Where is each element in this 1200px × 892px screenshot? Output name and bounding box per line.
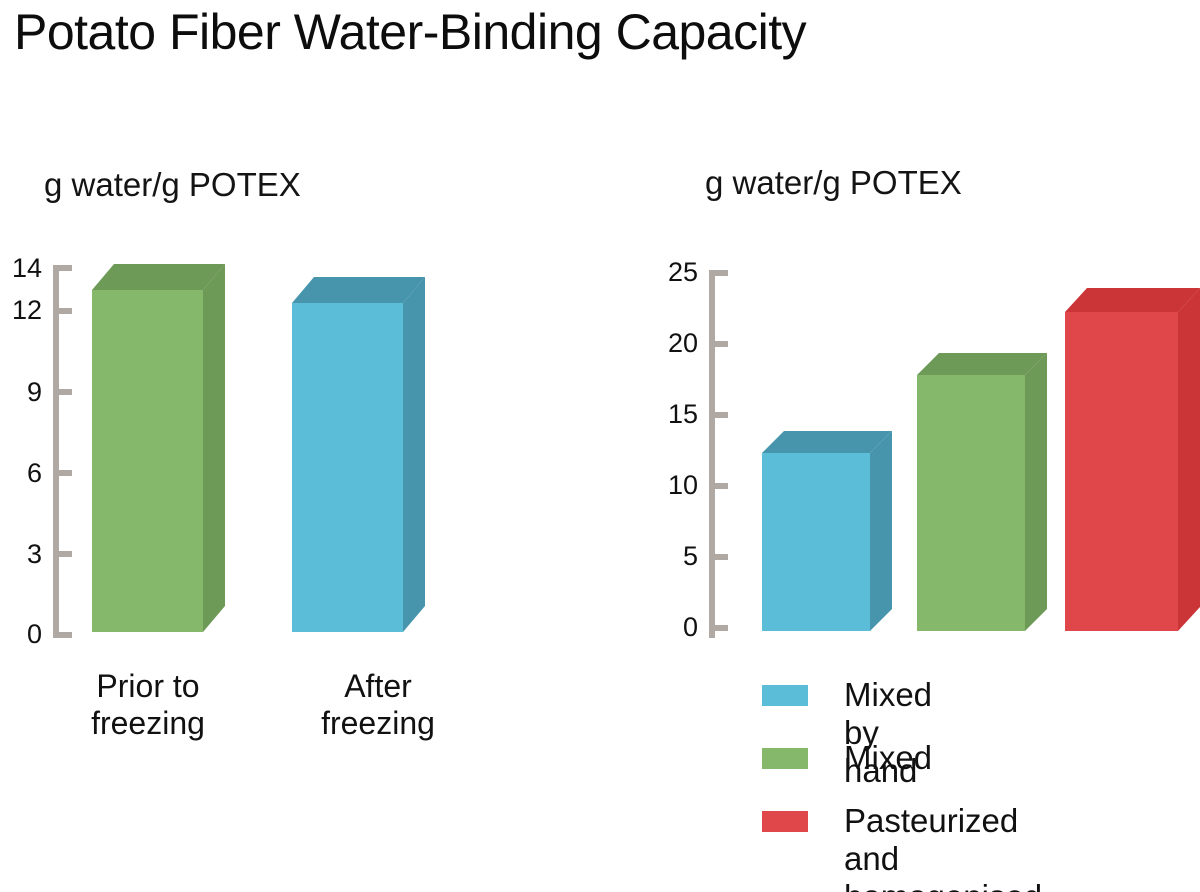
chart-figure: Potato Fiber Water-Binding Capacity g wa… xyxy=(0,0,1200,892)
left-axis-spine xyxy=(53,265,59,638)
bar-prior-to-freezing xyxy=(92,264,225,632)
bar-side-face xyxy=(403,277,425,632)
right-axis-label-20: 20 xyxy=(640,330,698,357)
bar-side-face xyxy=(870,431,892,631)
right-axis-label-5: 5 xyxy=(640,543,698,570)
category-label-after-freezing: After freezing xyxy=(288,668,468,742)
legend-label: Mixed xyxy=(844,739,932,777)
left-axis-tick-0 xyxy=(53,632,72,638)
left-axis-tick-9 xyxy=(53,389,72,395)
right-axis-tick-5 xyxy=(709,554,728,560)
right-axis-tick-25 xyxy=(709,270,728,276)
right-axis-tick-15 xyxy=(709,412,728,418)
left-axis-label-12: 12 xyxy=(0,297,42,324)
right-axis-spine xyxy=(709,270,715,638)
right-axis-label-25: 25 xyxy=(640,259,698,286)
left-axis-label-9: 9 xyxy=(0,379,42,406)
bar-pasteurized-and-homogenised xyxy=(1065,288,1200,631)
bar-after-freezing xyxy=(292,277,425,632)
right-chart-axis-title: g water/g POTEX xyxy=(705,163,962,203)
left-axis-tick-6 xyxy=(53,470,72,476)
bar-front-face xyxy=(92,290,203,632)
bar-front-face xyxy=(292,303,403,632)
left-axis-tick-3 xyxy=(53,551,72,557)
bar-front-face xyxy=(762,453,870,631)
bar-mixed-by-hand xyxy=(762,431,892,631)
legend-swatch-blue xyxy=(762,685,808,706)
bar-front-face xyxy=(917,375,1025,631)
chart-panel-left: g water/g POTEX 14 12 9 6 3 0 Prior to xyxy=(0,0,640,892)
left-axis-label-14: 14 xyxy=(0,255,42,282)
left-chart-axis-title: g water/g POTEX xyxy=(44,165,301,205)
bar-side-face xyxy=(203,264,225,632)
legend-item-mixed[interactable]: Mixed xyxy=(762,739,932,777)
left-axis-label-3: 3 xyxy=(0,541,42,568)
legend-item-pasteurized-and-homogenised[interactable]: Pasteurized and homogenised xyxy=(762,802,1042,892)
right-axis-tick-10 xyxy=(709,483,728,489)
right-axis-label-10: 10 xyxy=(640,472,698,499)
right-axis-tick-0 xyxy=(709,625,728,631)
right-axis-tick-20 xyxy=(709,341,728,347)
bar-side-face xyxy=(1178,288,1200,631)
left-axis-label-6: 6 xyxy=(0,460,42,487)
legend-swatch-red xyxy=(762,811,808,832)
bar-front-face xyxy=(1065,312,1178,631)
right-axis-label-0: 0 xyxy=(640,614,698,641)
right-axis-label-15: 15 xyxy=(640,401,698,428)
left-axis-tick-14 xyxy=(53,265,72,271)
legend-label: Pasteurized and homogenised xyxy=(844,802,1042,892)
left-axis-label-0: 0 xyxy=(0,621,42,648)
category-label-prior-to-freezing: Prior to freezing xyxy=(48,668,248,742)
legend-swatch-green xyxy=(762,748,808,769)
bar-mixed xyxy=(917,353,1047,631)
bar-side-face xyxy=(1025,353,1047,631)
left-axis-tick-12 xyxy=(53,308,72,314)
